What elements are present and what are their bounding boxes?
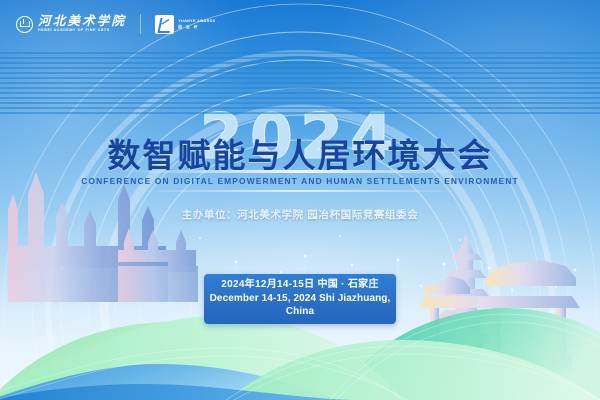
logo-hebei-academy[interactable]: 河北美术学院 HEBEI ACADEMY OF FINE ARTS [16,15,126,32]
academy-name-cn: 河北美术学院 [38,15,126,28]
conference-poster: 河北美术学院 HEBEI ACADEMY OF FINE ARTS YUANYE… [0,0,600,400]
year-block: 2024 [0,52,600,114]
date-text-cn: 2024年12月14-15日 中国 · 石家庄 [204,279,396,292]
date-badge: 2024年12月14-15日 中国 · 石家庄 December 14-15, … [204,274,396,324]
yuanye-name-cn: 园 冶 杯 [178,26,215,30]
academy-seal-icon [16,16,33,33]
logo-divider [140,14,141,34]
yuanye-name-en: YUANYE AWARDS [178,19,215,24]
gothic-campus-silhouette [8,172,198,302]
date-text-en: December 14-15, 2024 Shi Jiazhuang, Chin… [204,292,396,318]
academy-name-en: HEBEI ACADEMY OF FINE ARTS [38,29,126,33]
yuanye-award-mark-icon [155,15,174,34]
header-logos: 河北美术学院 HEBEI ACADEMY OF FINE ARTS YUANYE… [16,14,216,34]
logo-yuanye-award[interactable]: YUANYE AWARDS 园 冶 杯 [155,15,215,34]
